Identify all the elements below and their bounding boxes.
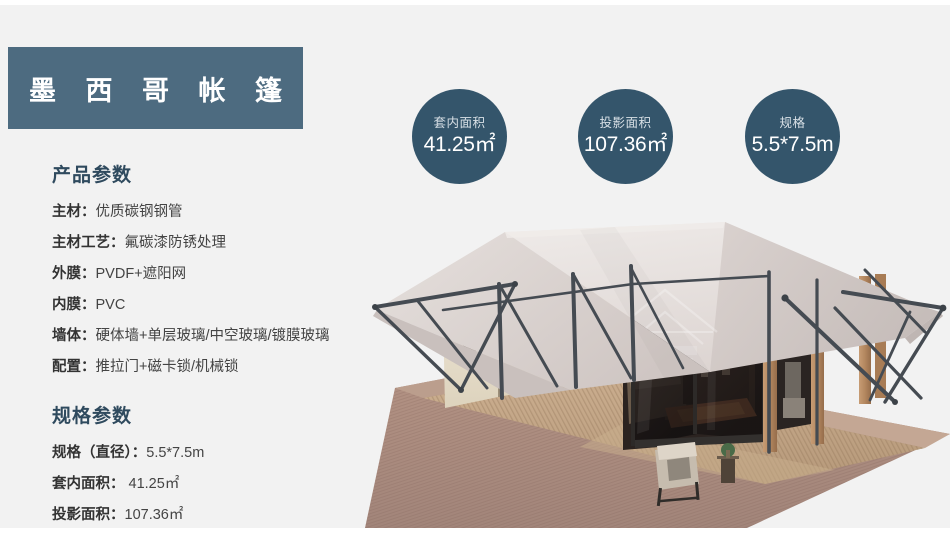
spec-label: 内膜： [52, 297, 96, 313]
spec-label: 外膜： [52, 266, 96, 282]
spec-label: 墙体： [52, 328, 96, 344]
spec-value: 优质碳钢钢管 [96, 204, 183, 220]
specification-parameters-group: 规格参数 规格（直径）：5.5*7.5m 套内面积： 41.25㎡ 投影面积：1… [52, 405, 352, 534]
spec-row: 外膜：PVDF+遮阳网 [52, 259, 352, 290]
spec-row: 投影面积：107.36㎡ [52, 500, 352, 531]
page-title: 墨 西 哥 帐 篷 [18, 69, 293, 108]
spec-value: 5.5*7.5m [146, 445, 204, 461]
spec-value: 107.36㎡ [125, 507, 184, 523]
spec-label: 投影面积： [52, 507, 125, 523]
spec-row: 墙体：硬体墙+单层玻璃/中空玻璃/镀膜玻璃 [52, 321, 352, 352]
spec-label: 规格（直径）： [52, 445, 146, 461]
spec-value: 氟碳漆防锈处理 [125, 235, 227, 251]
tent-render-image [365, 212, 950, 528]
product-parameters-group: 产品参数 主材：优质碳钢钢管 主材工艺：氟碳漆防锈处理 外膜：PVDF+遮阳网 … [52, 164, 352, 383]
stat-badge-projected-area: 投影面积 107.36㎡ [578, 89, 673, 184]
stat-badge-value: 5.5*7.5m [752, 132, 834, 158]
bottom-edge-strip [0, 528, 950, 534]
slide-canvas: 墨 西 哥 帐 篷 产品参数 主材：优质碳钢钢管 主材工艺：氟碳漆防锈处理 外膜… [0, 0, 950, 534]
stat-badge-interior-area: 套内面积 41.25㎡ [412, 89, 507, 184]
spec-label: 主材： [52, 204, 96, 220]
spec-value: 41.25㎡ [125, 476, 180, 492]
section-heading-specification: 规格参数 [52, 405, 352, 429]
spec-row: 配置：推拉门+磁卡锁/机械锁 [52, 352, 352, 383]
spec-row: 主材工艺：氟碳漆防锈处理 [52, 228, 352, 259]
spec-row: 主材：优质碳钢钢管 [52, 197, 352, 228]
section-heading-product: 产品参数 [52, 164, 352, 188]
stat-badge-label: 投影面积 [599, 115, 651, 131]
spec-value: PVDF+遮阳网 [96, 266, 187, 282]
stat-badge-value: 41.25㎡ [424, 132, 496, 158]
spec-value: PVC [96, 297, 126, 313]
stat-badge-label: 规格 [779, 115, 805, 131]
spec-label: 套内面积： [52, 476, 125, 492]
spec-label: 主材工艺： [52, 235, 125, 251]
specification-column: 产品参数 主材：优质碳钢钢管 主材工艺：氟碳漆防锈处理 外膜：PVDF+遮阳网 … [52, 164, 352, 534]
spec-label: 配置： [52, 359, 96, 375]
spec-value: 推拉门+磁卡锁/机械锁 [96, 359, 239, 375]
stat-badge-label: 套内面积 [433, 115, 485, 131]
title-banner: 墨 西 哥 帐 篷 [8, 47, 303, 129]
spec-row: 套内面积： 41.25㎡ [52, 469, 352, 500]
stat-badge-dimensions: 规格 5.5*7.5m [745, 89, 840, 184]
spec-row: 规格（直径）：5.5*7.5m [52, 438, 352, 469]
spec-value: 硬体墙+单层玻璃/中空玻璃/镀膜玻璃 [96, 328, 330, 344]
spec-row: 内膜：PVC [52, 290, 352, 321]
top-edge-strip [0, 0, 950, 5]
stat-badge-value: 107.36㎡ [584, 132, 667, 158]
